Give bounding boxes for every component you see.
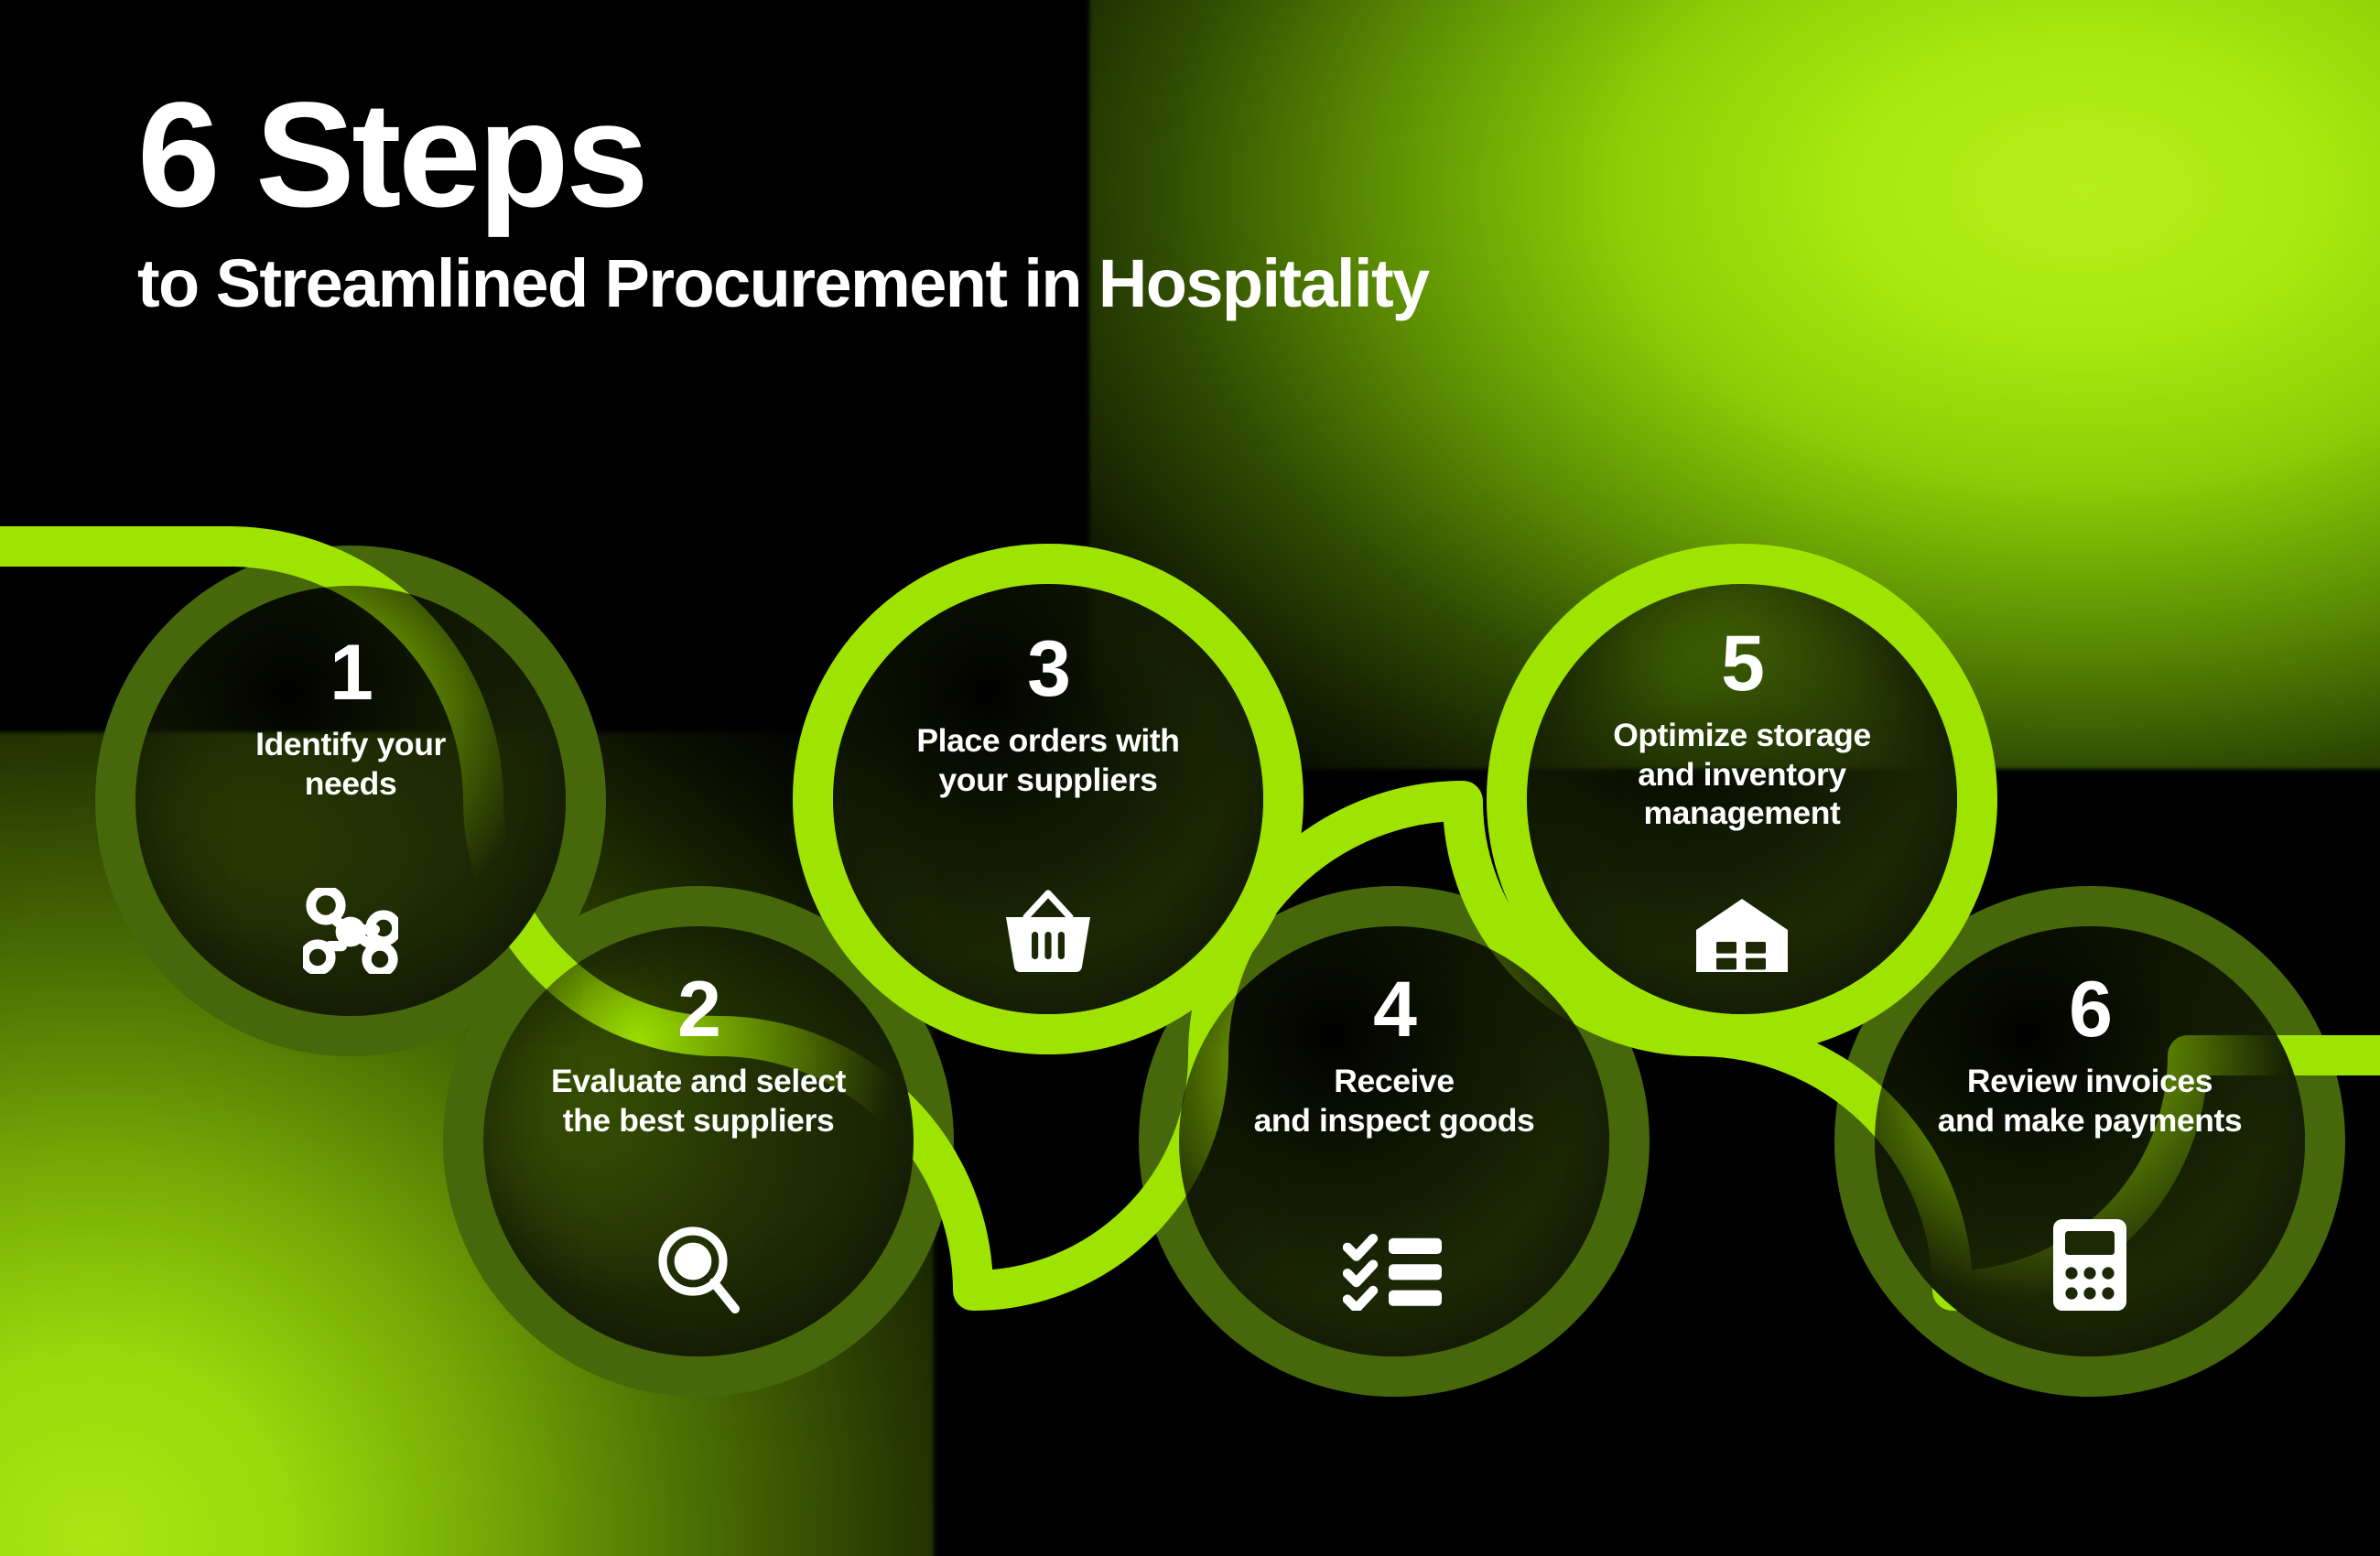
step-number-3: 3 [1027, 630, 1069, 708]
molecule-icon [303, 888, 398, 974]
step-label-2: Evaluate and select the best suppliers [527, 1062, 870, 1140]
step-label-6: Review invoices and make payments [1914, 1062, 2266, 1140]
magnifier-icon [654, 1225, 742, 1316]
step-number-5: 5 [1721, 624, 1763, 703]
step-number-1: 1 [330, 633, 372, 712]
page-title: 6 Steps [137, 81, 1429, 228]
header-block: 6 Steps to Streamlined Procurement in Ho… [137, 81, 1429, 319]
step-number-2: 2 [677, 970, 719, 1049]
basket-icon [1001, 886, 1096, 974]
step-number-4: 4 [1373, 970, 1415, 1049]
step-label-5: Optimize storage and inventory managemen… [1589, 716, 1895, 833]
calculator-icon [2051, 1217, 2128, 1313]
page-subtitle: to Streamlined Procurement in Hospitalit… [137, 248, 1429, 319]
step-label-3: Place orders with your suppliers [892, 721, 1203, 799]
step-label-1: Identify your needs [232, 725, 470, 803]
step-label-4: Receive and inspect goods [1230, 1062, 1559, 1140]
step-number-6: 6 [2069, 970, 2111, 1049]
infographic-canvas: 6 Steps to Streamlined Procurement in Ho… [0, 0, 2380, 1556]
step-node-6[interactable]: 6 Review invoices and make payments [1875, 926, 2305, 1356]
checklist-icon [1343, 1234, 1445, 1311]
warehouse-icon [1693, 897, 1791, 974]
